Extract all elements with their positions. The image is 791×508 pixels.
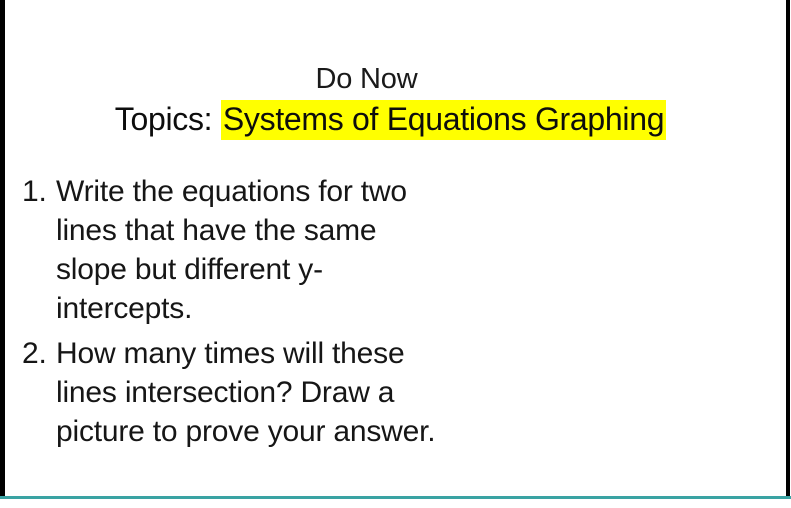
- bottom-margin-strip: [0, 499, 791, 508]
- list-item: 1. Write the equations for two lines tha…: [22, 172, 542, 328]
- slide-title: Do Now: [5, 60, 786, 98]
- list-item-number: 1.: [22, 172, 56, 211]
- slide-heading: Do Now Topics: Systems of Equations Grap…: [5, 60, 786, 140]
- list-item-text: Write the equations for two lines that h…: [56, 172, 542, 328]
- list-item-text: How many times will these lines intersec…: [56, 334, 542, 451]
- slide-canvas: Do Now Topics: Systems of Equations Grap…: [0, 0, 791, 508]
- topics-highlighted-value: Systems of Equations Graphing: [221, 100, 666, 140]
- right-border-bar: [786, 0, 790, 498]
- question-list: 1. Write the equations for two lines tha…: [22, 172, 542, 457]
- list-item-number: 2.: [22, 334, 56, 373]
- topics-line: Topics: Systems of Equations Graphing: [5, 98, 786, 140]
- list-item: 2. How many times will these lines inter…: [22, 334, 542, 451]
- topics-label: Topics:: [115, 101, 221, 137]
